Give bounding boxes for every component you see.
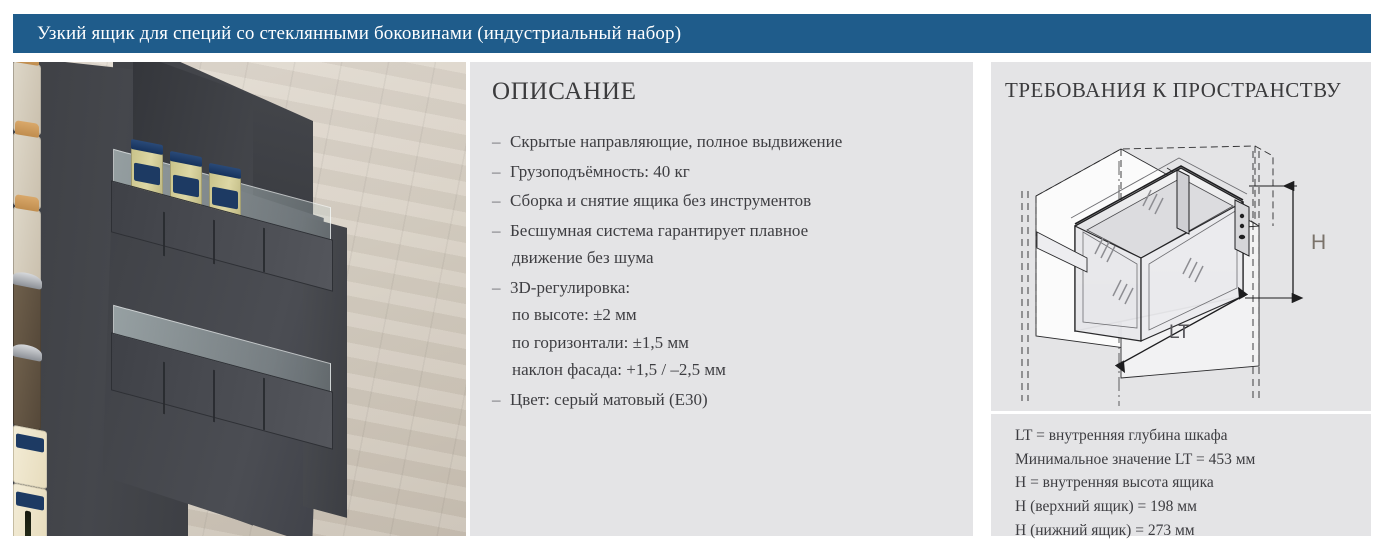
- note-line: H (нижний ящик) = 273 мм: [1015, 519, 1371, 543]
- bullet-dash-icon: –: [492, 158, 510, 186]
- note-line: H (верхний ящик) = 198 мм: [1015, 495, 1371, 519]
- tray-divider-2: [213, 220, 215, 265]
- lower-divider-1: [163, 362, 165, 415]
- product-photo: [13, 62, 466, 536]
- description-heading: ОПИСАНИЕ: [492, 78, 951, 106]
- header-bar: Узкий ящик для специй со стеклянными бок…: [13, 14, 1371, 53]
- description-panel: ОПИСАНИЕ – Скрытые направляющие, полное …: [470, 62, 973, 536]
- cork-lid-icon: [15, 62, 39, 66]
- content-area: ОПИСАНИЕ – Скрытые направляющие, полное …: [13, 62, 1371, 536]
- cabinet-dimension-diagram: H LT: [991, 106, 1371, 411]
- bullet-dash-icon: –: [492, 187, 510, 215]
- feature-subline: наклон фасада: +1,5 / –2,5 мм: [510, 356, 951, 384]
- bullet-dash-icon: –: [492, 217, 510, 245]
- feature-item: – Цвет: серый матовый (E30): [492, 386, 951, 414]
- note-line: H = внутренняя высота ящика: [1015, 471, 1371, 495]
- jar-mayo-1: [13, 425, 47, 490]
- bottle-neck: [25, 510, 32, 536]
- bullet-dash-icon: –: [492, 274, 510, 302]
- feature-item: – 3D-регулировка: по высоте: ±2 мм по го…: [492, 274, 951, 384]
- tray-divider-1: [163, 212, 165, 257]
- feature-line: 3D-регулировка:: [510, 278, 630, 297]
- space-notes-block: LT = внутренняя глубина шкафа Минимально…: [991, 414, 1371, 536]
- feature-item: – Сборка и снятие ящика без инструментов: [492, 187, 951, 215]
- note-line: LT = внутренняя глубина шкафа: [1015, 424, 1371, 448]
- dimension-label-h: H: [1311, 231, 1326, 254]
- pepper-mill-2: [13, 353, 41, 430]
- space-requirements-panel: ТРЕБОВАНИЯ К ПРОСТРАНСТВУ: [978, 62, 1371, 536]
- cork-lid-icon: [15, 120, 39, 138]
- feature-item: – Бесшумная система гарантирует плавное …: [492, 217, 951, 272]
- page-title: Узкий ящик для специй со стеклянными бок…: [13, 23, 681, 45]
- feature-text: Цвет: серый матовый (E30): [510, 386, 951, 414]
- feature-list: – Скрытые направляющие, полное выдвижени…: [492, 128, 951, 413]
- feature-text: Грузоподъёмность: 40 кг: [510, 158, 951, 186]
- bullet-dash-icon: –: [492, 386, 510, 414]
- feature-text: Бесшумная система гарантирует плавное дв…: [510, 217, 951, 272]
- dimension-label-lt: LT: [1169, 322, 1190, 343]
- feature-text: Скрытые направляющие, полное выдвижение: [510, 128, 951, 156]
- product-spec-sheet: Узкий ящик для специй со стеклянными бок…: [0, 0, 1384, 544]
- feature-item: – Грузоподъёмность: 40 кг: [492, 158, 951, 186]
- feature-subline: по горизонтали: ±1,5 мм: [510, 329, 951, 357]
- note-line: Минимальное значение LT = 453 мм: [1015, 448, 1371, 472]
- cork-lid-icon: [15, 194, 39, 212]
- photo-background: [13, 62, 466, 536]
- feature-subline: движение без шума: [510, 244, 951, 272]
- space-diagram-area: ТРЕБОВАНИЯ К ПРОСТРАНСТВУ: [991, 62, 1371, 411]
- feature-text: Сборка и снятие ящика без инструментов: [510, 187, 951, 215]
- lower-divider-3: [263, 378, 265, 431]
- space-requirements-heading: ТРЕБОВАНИЯ К ПРОСТРАНСТВУ: [1005, 78, 1341, 103]
- feature-line: Бесшумная система гарантирует плавное: [510, 221, 808, 240]
- feature-item: – Скрытые направляющие, полное выдвижени…: [492, 128, 951, 156]
- bullet-dash-icon: –: [492, 128, 510, 156]
- tray-divider-3: [263, 228, 265, 273]
- feature-text: 3D-регулировка: по высоте: ±2 мм по гори…: [510, 274, 951, 384]
- feature-subline: по высоте: ±2 мм: [510, 301, 951, 329]
- lower-divider-2: [213, 370, 215, 423]
